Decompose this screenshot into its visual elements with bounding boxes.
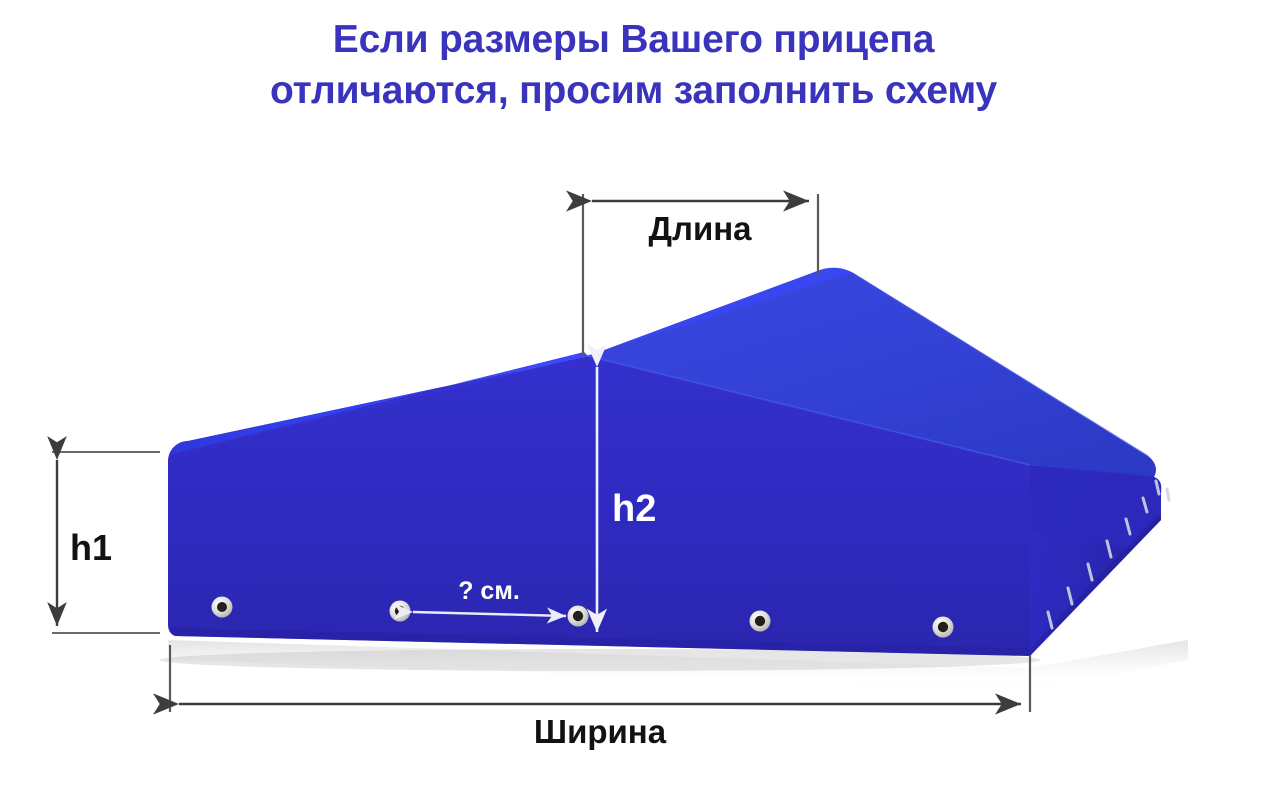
grommet: [390, 601, 411, 622]
width-label: Ширина: [534, 713, 667, 750]
grommet: [933, 617, 954, 638]
trailer-cover-diagram: Длина h1 h2 ? см.: [0, 0, 1267, 789]
grommet: [750, 611, 771, 632]
h1-label: h1: [70, 527, 112, 568]
h2-label: h2: [612, 488, 656, 530]
trailer-cover-body: [168, 268, 1161, 656]
diagram-page: Если размеры Вашего прицепа отличаются, …: [0, 0, 1267, 789]
gap-label: ? см.: [458, 577, 520, 605]
grommet: [568, 606, 589, 627]
grommet: [212, 597, 233, 618]
length-label: Длина: [648, 210, 752, 247]
